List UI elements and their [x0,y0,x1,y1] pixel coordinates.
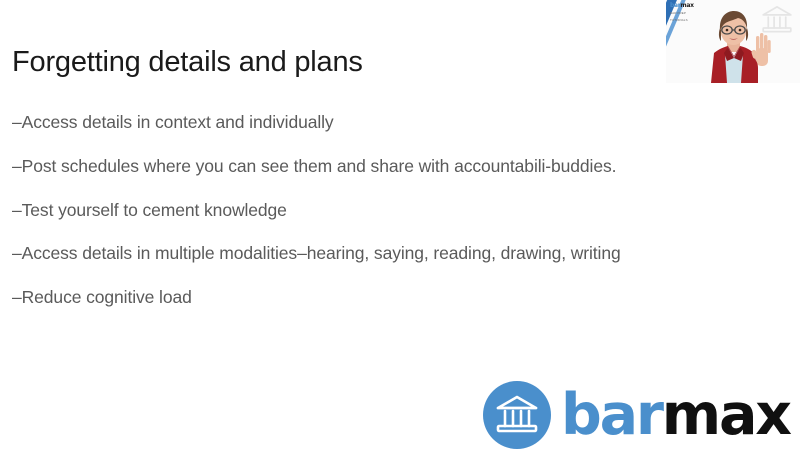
barmax-logo: barmax [483,381,790,449]
overlay-brand-wordmark: barmax [670,3,694,9]
list-item: –Access details in multiple modalities–h… [12,244,782,263]
list-item: –Test yourself to cement knowledge [12,201,782,220]
presentation-slide: Forgetting details and plans –Access det… [0,0,800,454]
bullet-list: –Access details in context and individua… [12,113,782,332]
list-item: –Access details in context and individua… [12,113,782,132]
overlay-brand-word-max: max [680,2,693,9]
bank-building-icon [483,381,551,449]
presenter-figure [694,6,776,83]
overlay-brand-word-bar: bar [670,2,680,9]
brand-word-max: max [662,382,790,448]
presenter-video-overlay[interactable]: barmax BAR PREP TUTORIALS [666,0,800,83]
list-item: –Post schedules where you can see them a… [12,157,782,176]
overlay-barmax-logo: barmax BAR PREP TUTORIALS [670,3,694,22]
page-title: Forgetting details and plans [12,46,363,79]
overlay-tagline-line-1: BAR PREP [670,11,694,16]
brand-wordmark: barmax [561,387,790,444]
overlay-tagline-line-2: TUTORIALS [670,18,694,23]
brand-word-bar: bar [561,382,662,448]
list-item: –Reduce cognitive load [12,288,782,307]
